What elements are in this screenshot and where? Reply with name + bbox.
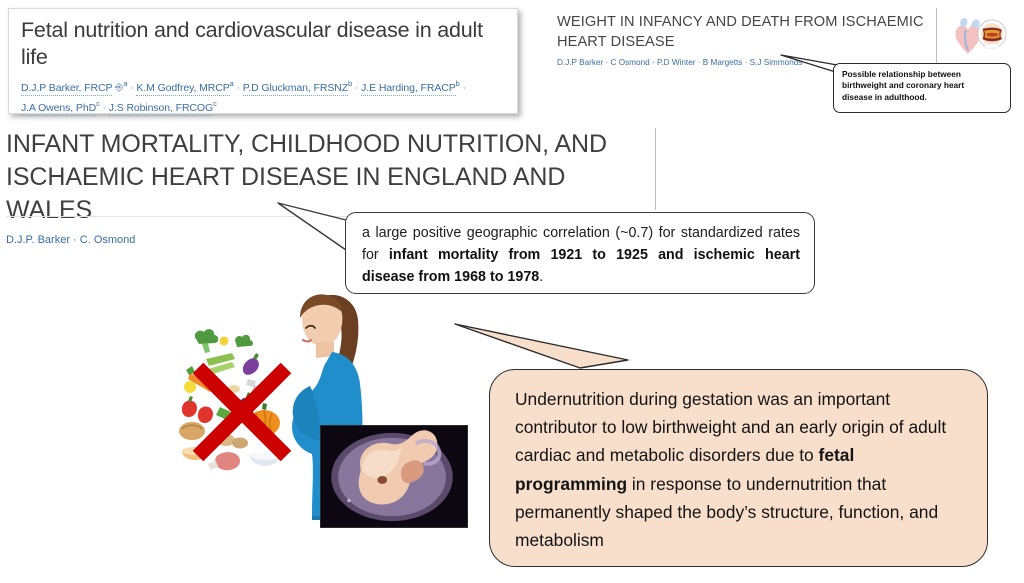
callout-small-line3: disease in adulthood. <box>842 92 1003 103</box>
callout-mid-text-end: . <box>539 269 543 285</box>
heart-anatomy-artery-plaque-icon <box>948 14 1010 58</box>
vertical-divider-middle <box>655 128 656 210</box>
author-link[interactable]: D.J.P Barker, FRCP <box>21 82 112 96</box>
author-link[interactable]: J.E Harding, FRACP <box>361 82 455 96</box>
author-link[interactable]: D.J.P Barker <box>557 58 603 67</box>
paper1-title: Fetal nutrition and cardiovascular disea… <box>21 17 507 71</box>
paper2-title: WEIGHT IN INFANCY AND DEATH FROM ISCHAEM… <box>557 12 935 52</box>
callout-possible-relationship: Possible relationship between birthweigh… <box>833 63 1011 113</box>
human-embryo-photograph <box>320 425 468 528</box>
red-cross-out-mark <box>188 358 296 466</box>
author-link[interactable]: B Margetts <box>703 58 743 67</box>
callout-small-line2: birthweight and coronary heart <box>842 80 1003 91</box>
author-link[interactable]: C Osmond <box>611 58 650 67</box>
author-link[interactable]: D.J.P. Barker <box>6 234 70 246</box>
callout-mid-text-bold: infant mortality from 1921 to 1925 and i… <box>362 247 800 285</box>
paper-card-infant-mortality: INFANT MORTALITY, CHILDHOOD NUTRITION, A… <box>6 128 654 216</box>
vertical-divider-top <box>936 8 937 70</box>
author-link[interactable]: J.A Owens, PhD <box>21 102 96 116</box>
callout-big-text-plain: Undernutrition during gestation was an i… <box>515 389 946 465</box>
paper1-authors: D.J.P Barker, FRCP ⎆a · K.M Godfrey, MRC… <box>21 76 507 116</box>
paper-card-fetal-nutrition: Fetal nutrition and cardiovascular disea… <box>8 8 518 114</box>
callout-small-line1: Possible relationship between <box>842 69 1003 80</box>
callout-geographic-correlation: a large positive geographic correlation … <box>345 212 815 294</box>
author-link[interactable]: J.S Robinson, FRCOG <box>109 102 213 116</box>
author-link[interactable]: P.D Gluckman, FRSNZ <box>243 82 348 96</box>
slide-canvas: Fetal nutrition and cardiovascular disea… <box>0 0 1024 583</box>
author-link[interactable]: S.J Simmonds <box>750 58 803 67</box>
person-icon: ⎆ <box>112 82 123 94</box>
author-link[interactable]: P.D Winter <box>657 58 696 67</box>
callout-undernutrition-gestation: Undernutrition during gestation was an i… <box>489 369 988 567</box>
affiliation-marker: c <box>213 99 217 108</box>
author-link[interactable]: K.M Godfrey, MRCP <box>136 82 229 96</box>
author-link[interactable]: C. Osmond <box>80 234 136 246</box>
